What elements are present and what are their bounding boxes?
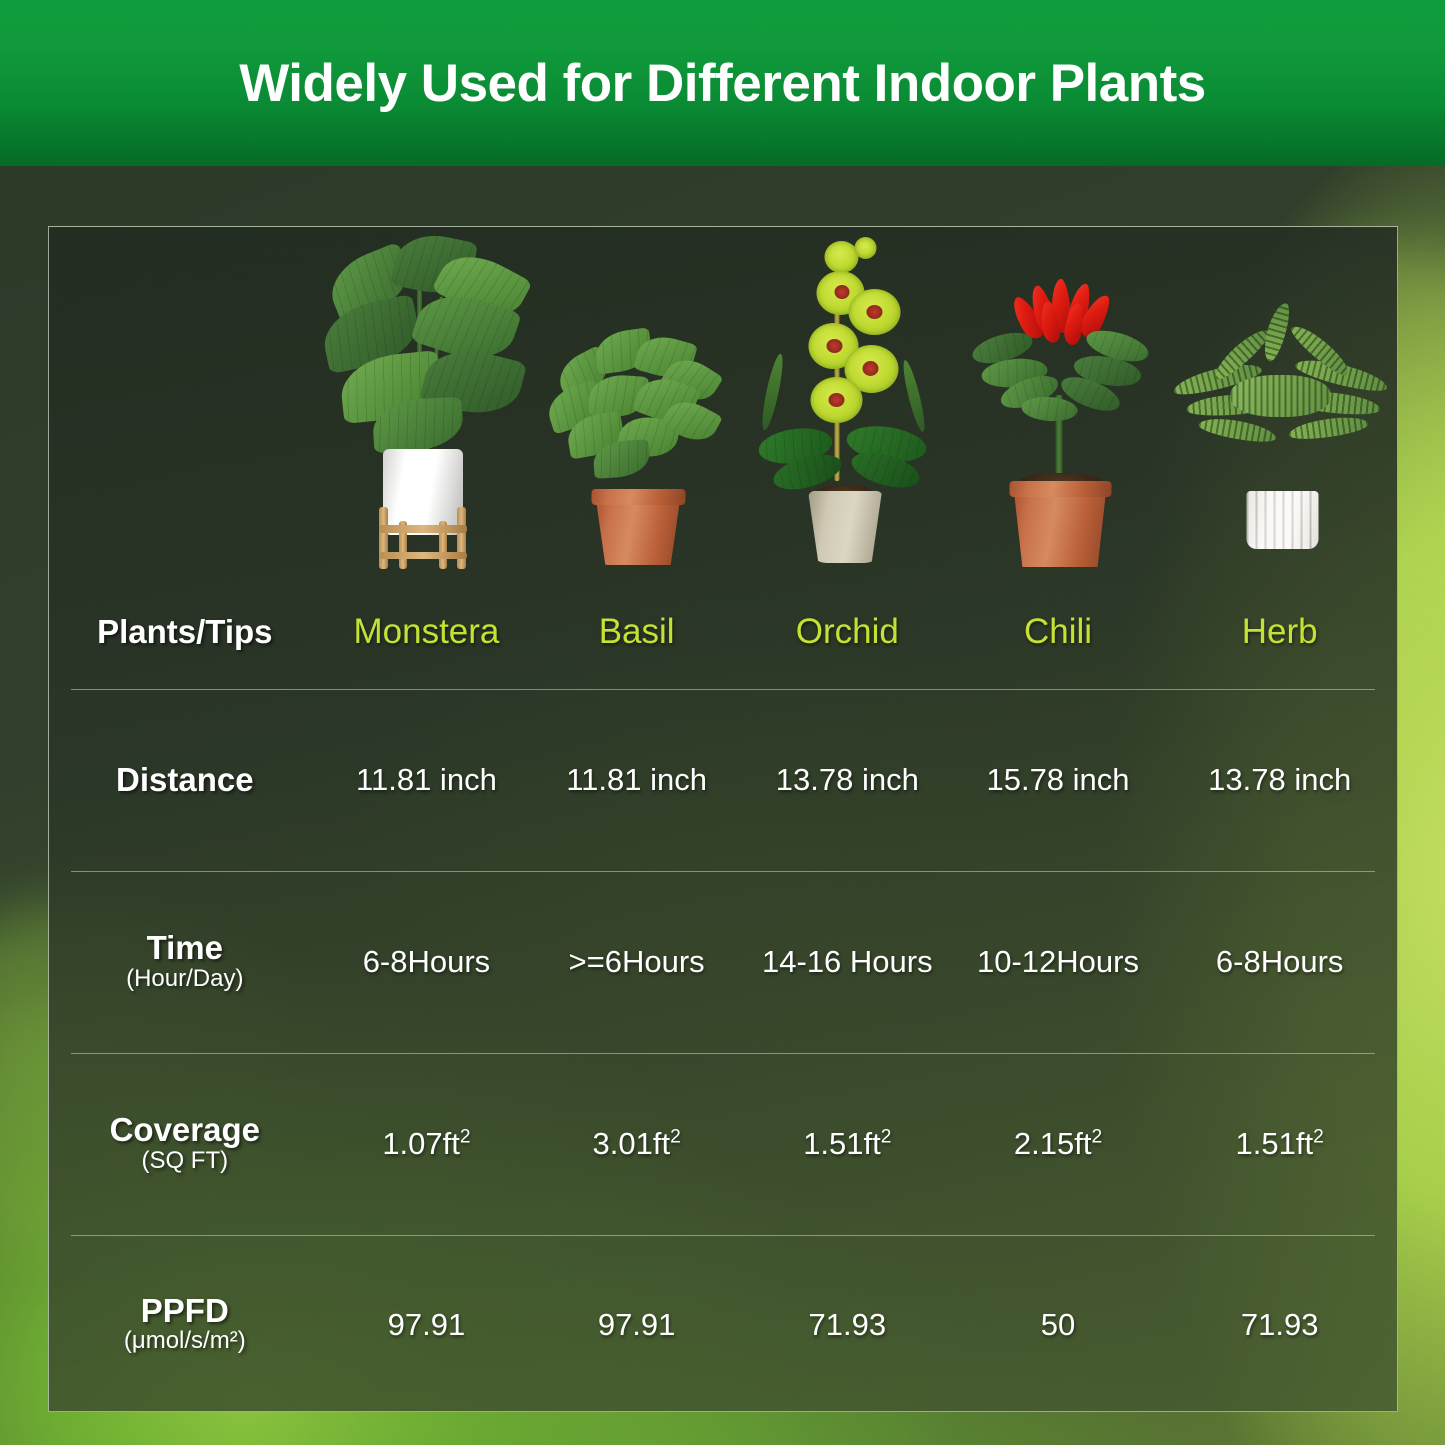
table-cell: 13.78 inch bbox=[1162, 690, 1397, 870]
table-cell: 14-16 Hours bbox=[741, 872, 954, 1052]
row-label: Time bbox=[147, 931, 223, 965]
table-cell: 71.93 bbox=[1162, 1236, 1397, 1413]
cell-value: 71.93 bbox=[1241, 1307, 1319, 1343]
table-cell: 50 bbox=[954, 1236, 1163, 1413]
cell-value: 1.07ft2 bbox=[382, 1126, 470, 1162]
column-label: Orchid bbox=[796, 612, 899, 652]
row-sublabel: (μmol/s/m²) bbox=[124, 1328, 246, 1355]
column-header-orchid: Orchid bbox=[741, 577, 954, 687]
cell-value: 6-8Hours bbox=[1216, 944, 1344, 980]
column-header-monstera: Monstera bbox=[321, 577, 533, 687]
cell-value: 1.51ft2 bbox=[803, 1126, 891, 1162]
comparison-table-panel: Plants/Tips Monstera Basil Orchid Chili … bbox=[48, 226, 1398, 1412]
table-cell: 71.93 bbox=[741, 1236, 954, 1413]
cell-value: 97.91 bbox=[598, 1307, 676, 1343]
table-cell: 10-12Hours bbox=[954, 872, 1163, 1052]
cell-value: 14-16 Hours bbox=[762, 944, 933, 980]
plant-images-row bbox=[49, 227, 1397, 577]
cell-value: 11.81 inch bbox=[566, 762, 707, 798]
corner-label: Plants/Tips bbox=[97, 615, 272, 649]
row-label: Distance bbox=[116, 763, 254, 797]
plant-image-basil bbox=[533, 227, 742, 577]
table-cell: 11.81 inch bbox=[532, 690, 741, 870]
table-cell: 15.78 inch bbox=[954, 690, 1163, 870]
table-cell: >=6Hours bbox=[532, 872, 741, 1052]
table-header-row: Plants/Tips Monstera Basil Orchid Chili … bbox=[49, 577, 1397, 687]
table-grid: Plants/Tips Monstera Basil Orchid Chili … bbox=[49, 577, 1397, 1413]
table-cell: 6-8Hours bbox=[1162, 872, 1397, 1052]
table-cell: 3.01ft2 bbox=[532, 1054, 741, 1234]
cell-value: 15.78 inch bbox=[986, 762, 1129, 798]
cell-value: 1.51ft2 bbox=[1236, 1126, 1324, 1162]
plant-image-herb bbox=[1164, 227, 1399, 577]
row-label-cell: Time (Hour/Day) bbox=[49, 872, 321, 1052]
row-label: Coverage bbox=[110, 1113, 260, 1147]
table-corner-cell: Plants/Tips bbox=[49, 577, 321, 687]
row-label: PPFD bbox=[141, 1294, 229, 1328]
column-label: Herb bbox=[1242, 612, 1318, 652]
cell-value: 50 bbox=[1041, 1307, 1075, 1343]
row-label-cell: Coverage (SQ FT) bbox=[49, 1054, 321, 1234]
table-cell: 1.51ft2 bbox=[741, 1054, 954, 1234]
plant-image-chili bbox=[955, 227, 1164, 577]
table-cell: 6-8Hours bbox=[321, 872, 533, 1052]
table-row-ppfd: PPFD (μmol/s/m²) 97.91 97.91 71.93 50 71… bbox=[49, 1236, 1397, 1413]
table-cell: 2.15ft2 bbox=[954, 1054, 1163, 1234]
column-header-chili: Chili bbox=[954, 577, 1163, 687]
row-sublabel: (Hour/Day) bbox=[126, 966, 243, 993]
column-label: Basil bbox=[599, 612, 675, 652]
column-label: Chili bbox=[1024, 612, 1092, 652]
cell-value: 3.01ft2 bbox=[593, 1126, 681, 1162]
header-banner: Widely Used for Different Indoor Plants bbox=[0, 0, 1445, 166]
table-cell: 11.81 inch bbox=[321, 690, 533, 870]
table-cell: 1.51ft2 bbox=[1162, 1054, 1397, 1234]
cell-value: >=6Hours bbox=[569, 944, 705, 980]
row-label-cell: Distance bbox=[49, 690, 321, 870]
cell-value: 2.15ft2 bbox=[1014, 1126, 1102, 1162]
cell-value: 13.78 inch bbox=[776, 762, 919, 798]
table-row-coverage: Coverage (SQ FT) 1.07ft2 3.01ft2 1.51ft2… bbox=[49, 1054, 1397, 1234]
row-label-cell: PPFD (μmol/s/m²) bbox=[49, 1236, 321, 1413]
row-sublabel: (SQ FT) bbox=[141, 1148, 228, 1175]
table-cell: 13.78 inch bbox=[741, 690, 954, 870]
column-label: Monstera bbox=[353, 612, 499, 652]
plant-image-orchid bbox=[742, 227, 955, 577]
plant-image-monstera bbox=[321, 227, 533, 577]
table-row-distance: Distance 11.81 inch 11.81 inch 13.78 inc… bbox=[49, 690, 1397, 870]
page-title: Widely Used for Different Indoor Plants bbox=[239, 53, 1206, 114]
cell-value: 97.91 bbox=[388, 1307, 466, 1343]
cell-value: 13.78 inch bbox=[1208, 762, 1351, 798]
product-infographic-page: Widely Used for Different Indoor Plants bbox=[0, 0, 1445, 1445]
column-header-herb: Herb bbox=[1162, 577, 1397, 687]
cell-value: 6-8Hours bbox=[363, 944, 491, 980]
table-cell: 97.91 bbox=[532, 1236, 741, 1413]
cell-value: 10-12Hours bbox=[977, 944, 1139, 980]
cell-value: 71.93 bbox=[809, 1307, 887, 1343]
table-cell: 1.07ft2 bbox=[321, 1054, 533, 1234]
column-header-basil: Basil bbox=[532, 577, 741, 687]
cell-value: 11.81 inch bbox=[356, 762, 497, 798]
table-cell: 97.91 bbox=[321, 1236, 533, 1413]
table-row-time: Time (Hour/Day) 6-8Hours >=6Hours 14-16 … bbox=[49, 872, 1397, 1052]
